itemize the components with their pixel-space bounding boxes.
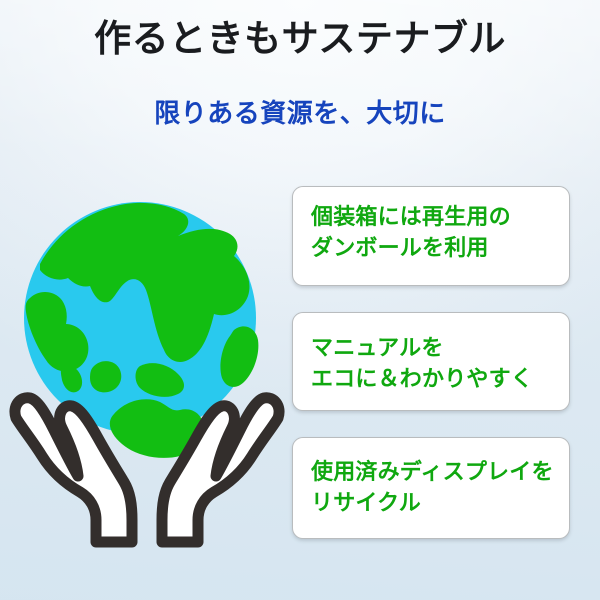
card-recycle-line-2: リサイクル — [311, 488, 569, 519]
card-packaging-line-2: ダンボールを利用 — [311, 233, 569, 264]
feature-card-packaging: 個装箱には再生用の ダンボールを利用 — [292, 186, 570, 286]
page-subtitle: 限りある資源を、大切に — [0, 98, 600, 130]
feature-card-manual: マニュアルを エコに＆わかりやすく — [292, 312, 570, 411]
card-recycle-line-1: 使用済みディスプレイを — [311, 457, 569, 488]
card-manual-line-2: エコに＆わかりやすく — [311, 364, 569, 395]
card-packaging-line-1: 個装箱には再生用の — [311, 202, 569, 233]
card-manual-line-1: マニュアルを — [311, 333, 569, 364]
feature-card-recycle: 使用済みディスプレイを リサイクル — [292, 437, 570, 539]
page-title: 作るときもサステナブル — [0, 17, 600, 61]
feature-card-list: 個装箱には再生用の ダンボールを利用 マニュアルを エコに＆わかりやすく 使用済… — [292, 186, 570, 539]
hands-holding-earth-illustration — [2, 190, 292, 550]
sustainability-poster: 作るときもサステナブル 限りある資源を、大切に — [0, 0, 600, 600]
